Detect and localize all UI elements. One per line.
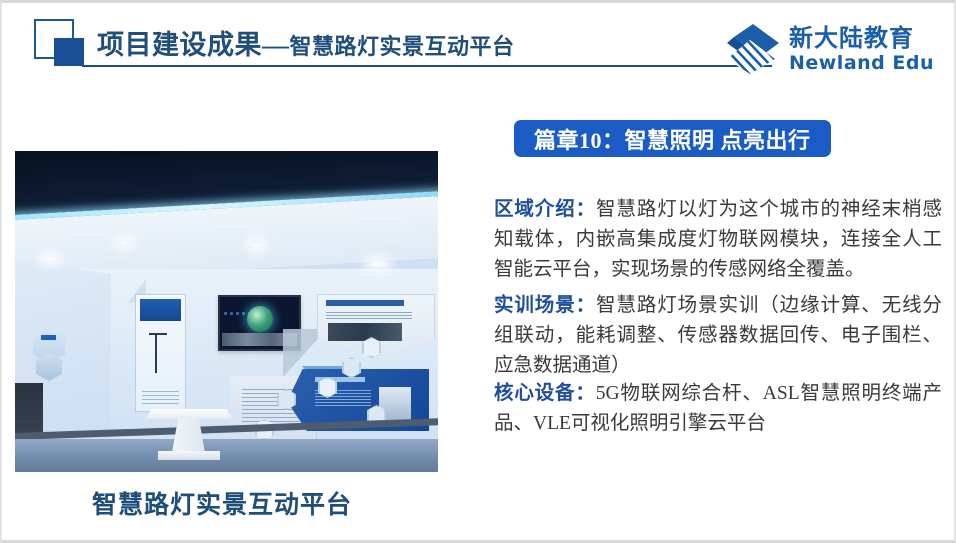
photo-rollup-banner — [135, 294, 186, 412]
paragraph-lead-label: 实训场景： — [494, 295, 596, 316]
photo-downlight-icon — [367, 259, 389, 269]
exhibition-photo — [15, 151, 438, 472]
brand-logo: 新大陆教育 Newland Edu — [726, 23, 934, 75]
paragraph-lead-label: 区域介绍： — [494, 199, 596, 220]
slide-canvas: 项目建设成果—智慧路灯实景互动平台 — [0, 0, 956, 543]
photo-downlight-icon — [41, 255, 58, 263]
photo-left-wall-graphic — [33, 329, 67, 385]
page-title-sub: 智慧路灯实景互动平台 — [290, 34, 515, 59]
brand-name-cn: 新大陆教育 — [789, 26, 934, 50]
page-title: 项目建设成果—智慧路灯实景互动平台 — [97, 23, 515, 62]
paragraph-training-scene: 实训场景：智慧路灯场景实训（边缘计算、无线分组联动，能耗调整、传感器数据回传、电… — [494, 291, 942, 381]
chapter-banner: 篇章10：智慧照明 点亮出行 — [514, 120, 831, 157]
paragraph-core-equipment: 核心设备：5G物联网综合杆、ASL智慧照明终端产品、VLE可视化照明引擎云平台 — [494, 379, 942, 439]
chapter-banner-label: 篇章10：智慧照明 点亮出行 — [534, 123, 811, 155]
photo-downlight-icon — [116, 239, 133, 247]
photo-doorway — [15, 383, 43, 439]
photo-caption: 智慧路灯实景互动平台 — [92, 485, 352, 521]
page-title-main: 项目建设成果— — [97, 30, 290, 60]
newland-diamond-logo-icon — [726, 23, 780, 75]
header-rule-divider — [82, 65, 772, 67]
brand-logo-text: 新大陆教育 Newland Edu — [789, 26, 934, 73]
photo-white-bench — [146, 409, 232, 461]
paragraph-lead-label: 核心设备： — [494, 383, 596, 404]
photo-tv-globe-graphic — [247, 306, 273, 332]
paragraph-area-intro: 区域介绍：智慧路灯以灯为这个城市的神经末梢感知载体，内嵌高集成度灯物联网模块，连… — [494, 195, 942, 285]
header-square-filled-icon — [54, 38, 84, 66]
photo-downlight-icon — [248, 241, 265, 249]
brand-name-en: Newland Edu — [789, 54, 934, 73]
